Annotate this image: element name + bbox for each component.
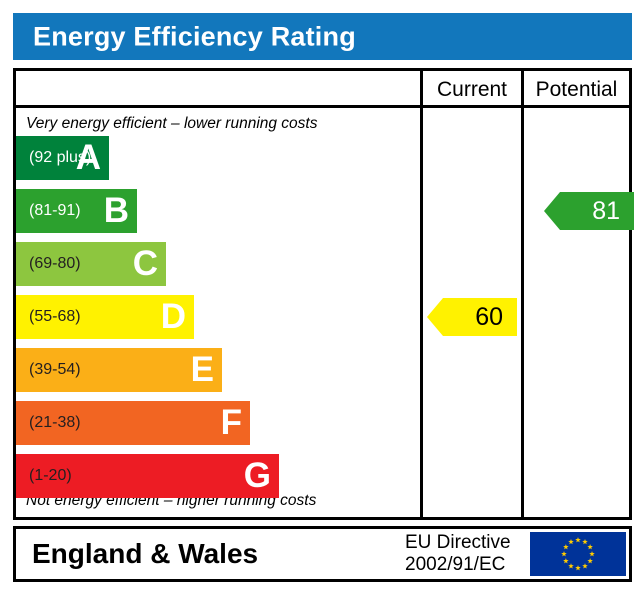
potential-rating-marker: 81 (544, 192, 634, 230)
eu-flag-icon (530, 532, 626, 576)
rating-band-a: (92 plus)A (16, 136, 109, 180)
band-letter-a: A (76, 140, 101, 175)
column-divider-potential (521, 71, 524, 517)
band-range-f: (21-38) (29, 414, 81, 432)
footer-directive-line1: EU Directive (405, 532, 511, 554)
column-divider-current (420, 71, 423, 517)
page-title: Energy Efficiency Rating (33, 21, 356, 52)
current-rating-marker: 60 (427, 298, 517, 336)
footer-directive: EU Directive 2002/91/EC (405, 532, 511, 576)
certificate-footer: England & Wales EU Directive 2002/91/EC (13, 526, 632, 582)
band-range-b: (81-91) (29, 202, 81, 220)
band-letter-d: D (161, 299, 186, 334)
rating-chart: Current Potential Very energy efficient … (13, 68, 632, 520)
footer-directive-line2: 2002/91/EC (405, 554, 511, 576)
rating-band-d: (55-68)D (16, 295, 194, 339)
band-letter-f: F (221, 405, 242, 440)
band-range-d: (55-68) (29, 308, 81, 326)
band-range-g: (1-20) (29, 467, 72, 485)
band-range-e: (39-54) (29, 361, 81, 379)
column-header-current: Current (423, 71, 521, 108)
chart-title-bar: Energy Efficiency Rating (13, 13, 632, 60)
rating-band-f: (21-38)F (16, 401, 250, 445)
column-header-potential: Potential (524, 71, 629, 108)
band-letter-c: C (133, 246, 158, 281)
rating-band-e: (39-54)E (16, 348, 222, 392)
band-letter-b: B (104, 193, 129, 228)
band-letter-g: G (244, 458, 271, 493)
caption-very-efficient: Very energy efficient – lower running co… (26, 115, 318, 133)
rating-band-g: (1-20)G (16, 454, 279, 498)
energy-efficiency-certificate: Energy Efficiency Rating Current Potenti… (0, 0, 643, 602)
band-letter-e: E (191, 352, 214, 387)
current-rating-marker-value: 60 (475, 305, 503, 330)
rating-band-b: (81-91)B (16, 189, 137, 233)
footer-region-label: England & Wales (32, 538, 258, 570)
band-range-c: (69-80) (29, 255, 81, 273)
potential-rating-marker-value: 81 (592, 199, 620, 224)
rating-band-c: (69-80)C (16, 242, 166, 286)
